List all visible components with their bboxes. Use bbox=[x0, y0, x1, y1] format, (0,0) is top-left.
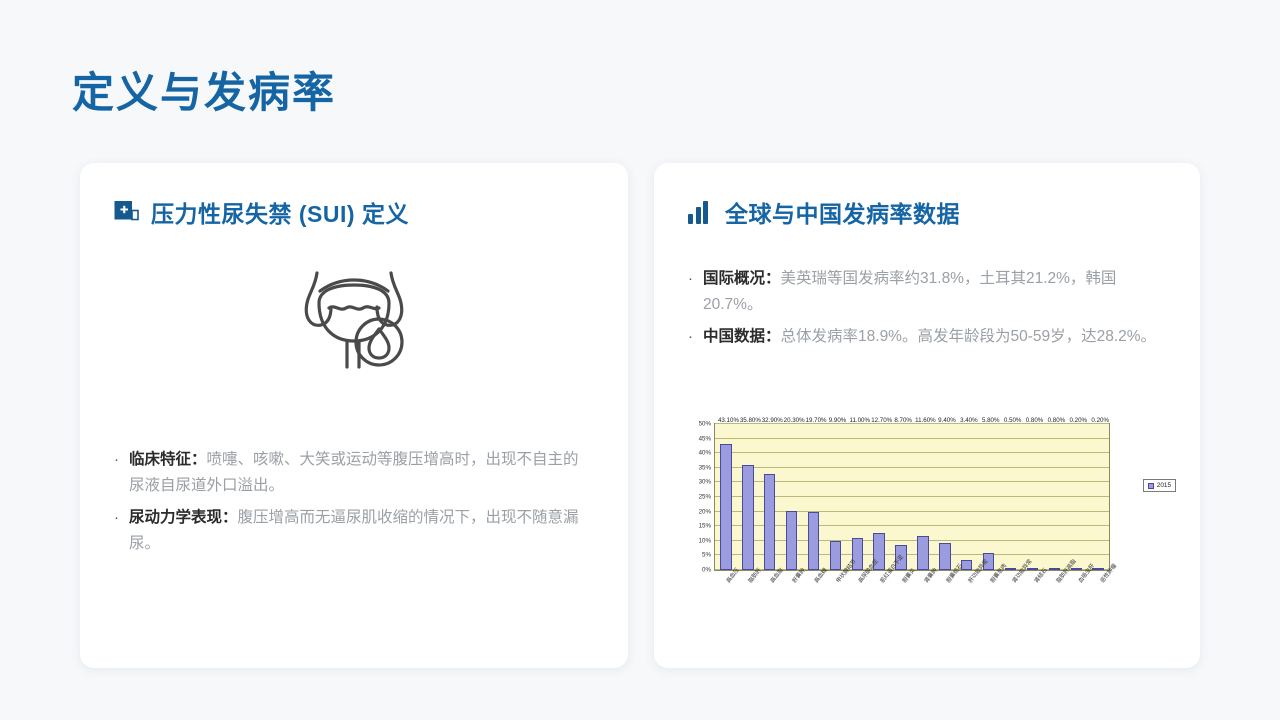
chart-value-label: 0.20% bbox=[1070, 417, 1088, 424]
chart-bar-cell: 0.20% bbox=[1065, 424, 1087, 570]
bullet-text: 中国数据：总体发病率18.9%。高发年龄段为50-59岁，达28.2%。 bbox=[703, 324, 1156, 350]
chart-x-tick: 肝囊肿 bbox=[780, 573, 802, 635]
chart-value-label: 32.90% bbox=[762, 417, 783, 424]
chart-y-tick-label: 45% bbox=[699, 435, 711, 442]
list-item: · 尿动力学表现：腹压增高而无逼尿肌收缩的情况下，出现不随意漏尿。 bbox=[114, 505, 594, 557]
chart-legend: 2015 bbox=[1143, 479, 1176, 492]
chart-x-tick: 高血脂 bbox=[758, 573, 780, 635]
chart-bar-cell: 3.40% bbox=[956, 424, 978, 570]
chart-y-tick-label: 30% bbox=[699, 479, 711, 486]
chart-bar-cell: 9.90% bbox=[824, 424, 846, 570]
chart-value-label: 11.60% bbox=[915, 417, 936, 424]
definition-card-header: 压力性尿失禁 (SUI) 定义 bbox=[80, 163, 628, 229]
chart-value-label: 12.70% bbox=[871, 417, 892, 424]
bullet-label: 中国数据： bbox=[703, 328, 781, 345]
bullet-label: 尿动力学表现： bbox=[129, 509, 238, 526]
chart-value-label: 35.80% bbox=[740, 417, 761, 424]
chart-y-tick-label: 25% bbox=[699, 494, 711, 501]
chart-bar: 32.90% bbox=[764, 474, 775, 570]
bullet-marker: · bbox=[114, 447, 119, 499]
chart-bar: 9.90% bbox=[830, 541, 841, 570]
chart-bar: 0.80% bbox=[1049, 568, 1060, 570]
chart-value-label: 0.50% bbox=[1004, 417, 1022, 424]
bullet-body: 总体发病率18.9%。高发年龄段为50-59岁，达28.2%。 bbox=[781, 328, 1157, 345]
chart-y-tick-label: 15% bbox=[699, 523, 711, 530]
chart-bar-cell: 0.20% bbox=[1087, 424, 1109, 570]
chart-bar-cell: 12.70% bbox=[868, 424, 890, 570]
chart-bars: 43.10%35.80%32.90%20.30%19.70%9.90%11.00… bbox=[715, 424, 1109, 570]
chart-bar: 11.60% bbox=[917, 536, 928, 570]
medical-file-plus-icon bbox=[114, 200, 139, 225]
chart-bar-cell: 5.80% bbox=[978, 424, 1000, 570]
chart-y-tick-label: 35% bbox=[699, 464, 711, 471]
chart-x-tick: 高血糖 bbox=[802, 573, 824, 635]
chart-bar: 20.30% bbox=[786, 511, 797, 570]
chart-x-axis-labels: 高血压脂肪肝高血脂肝囊肿高血糖甲状腺结节高尿酸血症肌红蛋白不足胆囊炎肾囊肿胆囊结… bbox=[714, 573, 1110, 635]
chart-x-tick: 脂肪肝高脂 bbox=[1044, 573, 1066, 635]
statistics-card-header: 全球与中国发病率数据 bbox=[654, 163, 1200, 229]
chart-x-tick: 肾结石 bbox=[1022, 573, 1044, 635]
chart-x-tick: 肾功能异常 bbox=[1000, 573, 1022, 635]
chart-bar-cell: 35.80% bbox=[737, 424, 759, 570]
chart-bar-cell: 20.30% bbox=[781, 424, 803, 570]
definition-card-title: 压力性尿失禁 (SUI) 定义 bbox=[151, 195, 409, 229]
chart-bar-cell: 32.90% bbox=[759, 424, 781, 570]
chart-bar-cell: 0.50% bbox=[1000, 424, 1022, 570]
page-title: 定义与发病率 bbox=[72, 68, 336, 118]
legend-label: 2015 bbox=[1157, 482, 1171, 489]
chart-y-tick-label: 0% bbox=[702, 567, 711, 574]
list-item: · 临床特征：喷嚏、咳嗽、大笑或运动等腹压增高时，出现不自主的尿液自尿道外口溢出… bbox=[114, 447, 594, 499]
chart-value-label: 0.20% bbox=[1091, 417, 1109, 424]
chart-x-tick: 胆囊息肉 bbox=[978, 573, 1000, 635]
chart-value-label: 8.70% bbox=[894, 417, 912, 424]
list-item: · 国际概况：美英瑞等国发病率约31.8%，土耳其21.2%，韩国20.7%。 bbox=[688, 266, 1166, 318]
incidence-bar-chart: 0%5%10%15%20%25%30%35%40%45%50% 43.10%35… bbox=[678, 415, 1178, 640]
chart-y-tick-label: 5% bbox=[702, 552, 711, 559]
definition-bullet-list: · 临床特征：喷嚏、咳嗽、大笑或运动等腹压增高时，出现不自主的尿液自尿道外口溢出… bbox=[80, 447, 628, 563]
bullet-text: 国际概况：美英瑞等国发病率约31.8%，土耳其21.2%，韩国20.7%。 bbox=[703, 266, 1166, 318]
chart-bar-cell: 0.80% bbox=[1043, 424, 1065, 570]
chart-value-label: 5.80% bbox=[982, 417, 1000, 424]
chart-value-label: 3.40% bbox=[960, 417, 978, 424]
chart-bar-cell: 11.60% bbox=[912, 424, 934, 570]
bullet-marker: · bbox=[688, 266, 693, 318]
chart-x-tick: 高血压 bbox=[714, 573, 736, 635]
chart-bar-cell: 43.10% bbox=[715, 424, 737, 570]
chart-value-label: 0.80% bbox=[1048, 417, 1066, 424]
chart-x-tick: 胆囊炎 bbox=[890, 573, 912, 635]
chart-bar: 43.10% bbox=[720, 444, 731, 570]
chart-y-tick-label: 50% bbox=[699, 421, 711, 428]
statistics-bullet-list: · 国际概况：美英瑞等国发病率约31.8%，土耳其21.2%，韩国20.7%。 … bbox=[654, 266, 1200, 356]
chart-value-label: 11.00% bbox=[849, 417, 870, 424]
chart-x-tick: 肾囊肿 bbox=[912, 573, 934, 635]
chart-bar-cell: 0.80% bbox=[1021, 424, 1043, 570]
chart-x-tick: 肌红蛋白不足 bbox=[868, 573, 890, 635]
chart-bar: 19.70% bbox=[808, 512, 819, 570]
chart-bar: 9.40% bbox=[939, 543, 950, 570]
chart-bar-cell: 11.00% bbox=[846, 424, 868, 570]
bullet-marker: · bbox=[688, 324, 693, 350]
list-item: · 中国数据：总体发病率18.9%。高发年龄段为50-59岁，达28.2%。 bbox=[688, 324, 1166, 350]
chart-x-tick: 胆囊结石 bbox=[934, 573, 956, 635]
chart-x-tick: 肝功能异常 bbox=[956, 573, 978, 635]
bullet-marker: · bbox=[114, 505, 119, 557]
chart-bar: 35.80% bbox=[742, 465, 753, 570]
chart-x-tick: 高尿酸血症 bbox=[846, 573, 868, 635]
chart-x-tick: 甲状腺结节 bbox=[824, 573, 846, 635]
chart-bar-cell: 19.70% bbox=[803, 424, 825, 570]
bullet-label: 国际概况： bbox=[703, 270, 781, 287]
statistics-card-title: 全球与中国发病率数据 bbox=[725, 195, 960, 229]
chart-value-label: 9.90% bbox=[829, 417, 847, 424]
bladder-urinary-icon bbox=[80, 235, 628, 403]
legend-swatch-icon bbox=[1148, 483, 1154, 489]
chart-bar-cell: 9.40% bbox=[934, 424, 956, 570]
chart-plot-area: 0%5%10%15%20%25%30%35%40%45%50% 43.10%35… bbox=[714, 423, 1110, 571]
definition-card: 压力性尿失禁 (SUI) 定义 · 临床特征：喷嚏、咳嗽、大笑或运动等腹压增高时… bbox=[80, 163, 628, 668]
bullet-text: 尿动力学表现：腹压增高而无逼尿肌收缩的情况下，出现不随意漏尿。 bbox=[129, 505, 594, 557]
chart-value-label: 19.70% bbox=[806, 417, 827, 424]
chart-x-tick: 脂肪肝 bbox=[736, 573, 758, 635]
chart-x-tick: 恶性肿瘤 bbox=[1088, 573, 1110, 635]
slide-root: 定义与发病率 压力性尿失禁 (SUI) 定义 bbox=[0, 0, 1280, 720]
chart-bar-cell: 8.70% bbox=[890, 424, 912, 570]
bullet-text: 临床特征：喷嚏、咳嗽、大笑或运动等腹压增高时，出现不自主的尿液自尿道外口溢出。 bbox=[129, 447, 594, 499]
chart-value-label: 9.40% bbox=[938, 417, 956, 424]
chart-value-label: 43.10% bbox=[718, 417, 739, 424]
chart-y-tick-label: 10% bbox=[699, 537, 711, 544]
bar-chart-icon bbox=[688, 201, 713, 224]
chart-y-tick-label: 40% bbox=[699, 450, 711, 457]
statistics-card: 全球与中国发病率数据 · 国际概况：美英瑞等国发病率约31.8%，土耳其21.2… bbox=[654, 163, 1200, 668]
chart-value-label: 0.80% bbox=[1026, 417, 1044, 424]
chart-x-tick: 血吸虫肝 bbox=[1066, 573, 1088, 635]
bullet-label: 临床特征： bbox=[129, 451, 207, 468]
chart-value-label: 20.30% bbox=[784, 417, 805, 424]
chart-y-tick-label: 20% bbox=[699, 508, 711, 515]
